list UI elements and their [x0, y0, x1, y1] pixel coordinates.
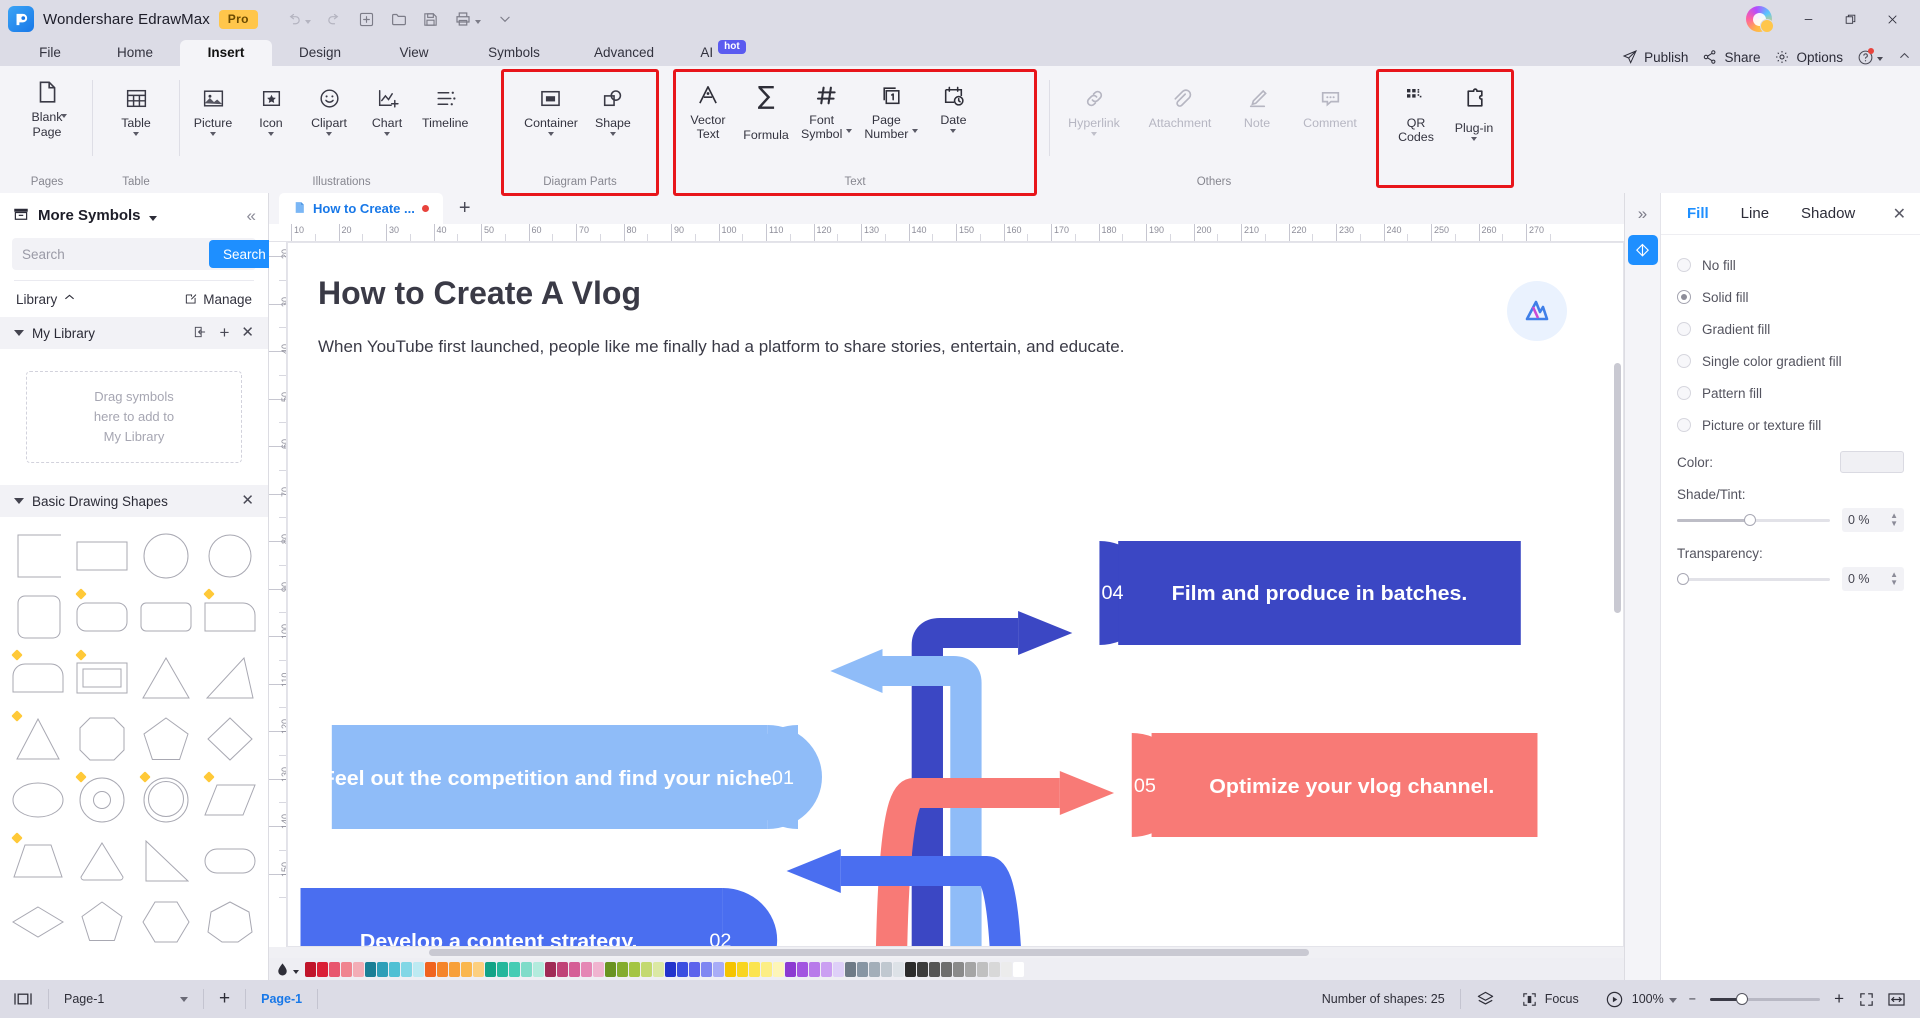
- tab-symbols[interactable]: Symbols: [460, 40, 568, 66]
- color-swatch[interactable]: [797, 962, 808, 977]
- adjust-handle-icon: [203, 588, 214, 599]
- group-basic-drawing-shapes[interactable]: Basic Drawing Shapes ✕: [0, 485, 268, 517]
- ribbon-container-button[interactable]: Container: [518, 80, 584, 136]
- shape-one-corner-rounded[interactable]: [198, 586, 262, 647]
- icon-star-icon: [259, 83, 284, 113]
- fill-option-no-fill[interactable]: No fill: [1677, 249, 1904, 281]
- color-swatch[interactable]: [353, 962, 364, 977]
- fill-option-single-color-gradient-fill[interactable]: Single color gradient fill: [1677, 345, 1904, 377]
- page-selector[interactable]: Page-1: [51, 980, 201, 1018]
- publish-icon: [1622, 49, 1638, 65]
- fill-bucket-icon[interactable]: [275, 962, 299, 977]
- ruler-tick: 80: [269, 541, 286, 542]
- ribbon-formula-label: Formula: [743, 128, 788, 142]
- ribbon-blank-page-label: Blank Page: [32, 110, 63, 140]
- fit-width-icon: [1887, 991, 1906, 1008]
- color-swatch[interactable]: [845, 962, 856, 977]
- close-panel-button[interactable]: ✕: [1893, 204, 1910, 224]
- color-swatch[interactable]: [617, 962, 628, 977]
- share-button[interactable]: Share: [1702, 49, 1760, 65]
- adjust-handle-icon: [203, 771, 214, 782]
- color-swatch[interactable]: [761, 962, 772, 977]
- shape-circle[interactable]: [134, 525, 198, 586]
- color-picker-button[interactable]: [1840, 451, 1904, 473]
- fill-option-label-picture-or-texture-fill: Picture or texture fill: [1702, 418, 1821, 433]
- chevron-down-icon[interactable]: [384, 132, 390, 136]
- color-swatch[interactable]: [953, 962, 964, 977]
- chevron-down-icon[interactable]: [548, 132, 554, 136]
- chevron-down-icon: [1669, 998, 1677, 1003]
- ruler-minor-tick: [980, 234, 981, 242]
- color-swatch[interactable]: [317, 962, 328, 977]
- redo-icon[interactable]: [320, 5, 350, 33]
- tab-file[interactable]: File: [10, 40, 90, 66]
- document-page[interactable]: How to Create A Vlog When YouTube first …: [287, 242, 1624, 947]
- document-tab[interactable]: How to Create ...: [279, 193, 443, 224]
- shape-square[interactable]: [6, 525, 70, 586]
- tab-fill[interactable]: Fill: [1671, 205, 1725, 222]
- color-swatch[interactable]: [365, 962, 376, 977]
- ribbon-group-label-diagram-parts: Diagram Parts: [499, 176, 661, 188]
- color-swatch[interactable]: [401, 962, 412, 977]
- ribbon-qr-codes-label: QR Codes: [1398, 116, 1434, 144]
- ribbon-shape-button[interactable]: Shape: [584, 80, 642, 136]
- color-swatch[interactable]: [377, 962, 388, 977]
- radio-pattern-fill[interactable]: [1677, 386, 1691, 400]
- ruler-minor-tick: [1502, 234, 1503, 242]
- color-swatch[interactable]: [437, 962, 448, 977]
- chevron-down-icon[interactable]: [1471, 137, 1477, 141]
- canvas-area: How to Create ... + 10203040506070809010…: [269, 193, 1624, 980]
- shape-two-corner-rounded[interactable]: [6, 647, 70, 708]
- container-icon: [538, 83, 563, 113]
- library-row: Library Manage: [0, 281, 268, 317]
- color-swatch[interactable]: [389, 962, 400, 977]
- open-icon[interactable]: [384, 5, 414, 33]
- ruler-tick: 10: [291, 224, 304, 241]
- color-swatch[interactable]: [329, 962, 340, 977]
- add-page-button[interactable]: +: [206, 980, 243, 1018]
- ruler-tick: 210: [1241, 224, 1259, 241]
- shape-pill[interactable]: [198, 830, 262, 891]
- presentation-button[interactable]: [1592, 990, 1628, 1009]
- ruler-tick: 20: [269, 256, 286, 257]
- ruler-minor-tick: [1265, 234, 1266, 242]
- library-label: Library: [16, 292, 57, 307]
- share-icon: [1702, 49, 1718, 65]
- ribbon-picture-button[interactable]: Picture: [184, 80, 242, 136]
- close-icon[interactable]: ✕: [241, 327, 254, 339]
- color-swatch[interactable]: [461, 962, 472, 977]
- color-swatch[interactable]: [305, 962, 316, 977]
- chevron-down-icon: [293, 970, 299, 974]
- chevron-up-icon[interactable]: [63, 291, 76, 307]
- ruler-minor-tick: [457, 234, 458, 242]
- color-swatch[interactable]: [713, 962, 724, 977]
- shape-diamond[interactable]: [198, 708, 262, 769]
- divider: [92, 80, 93, 156]
- chevron-down-icon[interactable]: [210, 132, 216, 136]
- zoom-in-button[interactable]: +: [1828, 989, 1850, 1009]
- shape-octagon-rect[interactable]: [70, 708, 134, 769]
- ribbon-plugin-button[interactable]: Plug-in: [1445, 80, 1503, 141]
- radio-gradient-fill[interactable]: [1677, 322, 1691, 336]
- color-swatch[interactable]: [545, 962, 556, 977]
- tab-view[interactable]: View: [368, 40, 460, 66]
- ruler-minor-tick: [505, 234, 506, 242]
- color-swatch[interactable]: [773, 962, 784, 977]
- tab-advanced[interactable]: Advanced: [568, 40, 680, 66]
- color-swatch[interactable]: [689, 962, 700, 977]
- ruler-minor-tick: [1122, 234, 1123, 242]
- ribbon-icon-button[interactable]: Icon: [242, 80, 300, 136]
- color-swatch[interactable]: [809, 962, 820, 977]
- search-input[interactable]: [12, 247, 209, 262]
- layers-button[interactable]: [1463, 990, 1508, 1009]
- color-swatch[interactable]: [593, 962, 604, 977]
- ruler-minor-tick: [279, 755, 287, 756]
- ruler-tick: 90: [269, 589, 286, 590]
- ruler-minor-tick: [279, 802, 287, 803]
- collapse-ribbon-button[interactable]: [1897, 48, 1912, 66]
- share-label: Share: [1724, 50, 1760, 65]
- ruler-minor-tick: [1550, 234, 1551, 242]
- tab-insert[interactable]: Insert: [180, 40, 272, 66]
- shape-parallelogram[interactable]: [198, 769, 262, 830]
- tab-design[interactable]: Design: [272, 40, 368, 66]
- chart-icon: [375, 83, 400, 113]
- help-button[interactable]: [1857, 49, 1883, 66]
- color-swatch[interactable]: [425, 962, 436, 977]
- color-swatch[interactable]: [569, 962, 580, 977]
- shape-right-triangle[interactable]: [134, 830, 198, 891]
- radio-solid-fill[interactable]: [1677, 290, 1691, 304]
- color-swatch[interactable]: [509, 962, 520, 977]
- color-swatch[interactable]: [629, 962, 640, 977]
- print-icon[interactable]: [448, 5, 488, 33]
- ruler-tick: 130: [861, 224, 879, 241]
- color-swatch[interactable]: [989, 962, 1000, 977]
- color-swatch[interactable]: [749, 962, 760, 977]
- close-button[interactable]: [1872, 3, 1912, 35]
- format-panel: Fill Line Shadow ✕ No fill Solid fill Gr…: [1660, 193, 1920, 980]
- page-title[interactable]: How to Create A Vlog: [318, 275, 641, 312]
- color-swatch[interactable]: [641, 962, 652, 977]
- color-swatch[interactable]: [605, 962, 616, 977]
- color-swatch[interactable]: [533, 962, 544, 977]
- color-swatch[interactable]: [869, 962, 880, 977]
- ruler-tick: 270: [1526, 224, 1544, 241]
- color-swatch[interactable]: [977, 962, 988, 977]
- ruler-tick: 220: [1289, 224, 1307, 241]
- color-swatch[interactable]: [413, 962, 424, 977]
- current-page-tab[interactable]: Page-1: [248, 980, 315, 1018]
- shape-rhombus-wide[interactable]: [6, 891, 70, 952]
- chevron-down-icon[interactable]: [950, 129, 956, 133]
- adjust-handle-icon: [11, 832, 22, 843]
- horizontal-scrollbar[interactable]: [429, 949, 1309, 956]
- manage-button[interactable]: Manage: [184, 292, 252, 307]
- color-swatch[interactable]: [893, 962, 904, 977]
- color-swatch[interactable]: [473, 962, 484, 977]
- color-swatch[interactable]: [497, 962, 508, 977]
- ribbon-page-number-button[interactable]: Page Number: [858, 77, 924, 141]
- divider: [179, 80, 180, 156]
- ruler-tick: 170: [1051, 224, 1069, 241]
- shape-donut[interactable]: [70, 769, 134, 830]
- ribbon-group-label-pages: Pages: [6, 176, 88, 188]
- ruler-minor-tick: [1455, 234, 1456, 242]
- ruler-tick: 240: [1384, 224, 1402, 241]
- status-bar: Page-1 + Page-1 Number of shapes: 25 Foc…: [0, 980, 1920, 1018]
- menu-tabs: File Home Insert Design View Symbols Adv…: [0, 38, 1920, 66]
- ruler-tick: 110: [766, 224, 783, 241]
- ruler-tick: 110: [269, 684, 286, 685]
- ruler-minor-tick: [279, 850, 287, 851]
- color-swatch[interactable]: [449, 962, 460, 977]
- shape-trapezoid[interactable]: [6, 830, 70, 891]
- color-swatch[interactable]: [1001, 962, 1012, 977]
- adjust-handle-icon: [11, 649, 22, 660]
- ribbon-comment-button: Comment: [1288, 80, 1372, 130]
- ruler-tick: 260: [1479, 224, 1497, 241]
- ruler-minor-tick: [1312, 234, 1313, 242]
- avatar[interactable]: [1746, 6, 1772, 32]
- color-swatch[interactable]: [653, 962, 664, 977]
- options-button[interactable]: Options: [1774, 49, 1843, 65]
- ruler-tick: 30: [386, 224, 399, 241]
- transparency-value[interactable]: 0 % ▲▼: [1842, 567, 1904, 591]
- color-swatch[interactable]: [941, 962, 952, 977]
- color-swatch[interactable]: [485, 962, 496, 977]
- chevron-down-icon[interactable]: [912, 129, 918, 133]
- comment-icon: [1318, 83, 1343, 113]
- fill-option-label-solid-fill: Solid fill: [1702, 290, 1749, 305]
- chevron-down-icon[interactable]: [326, 132, 332, 136]
- focus-icon: [1521, 991, 1538, 1008]
- hyperlink-icon: [1082, 83, 1107, 113]
- vertical-scrollbar[interactable]: [1614, 363, 1621, 613]
- save-icon[interactable]: [416, 5, 446, 33]
- ribbon-group-table: Table Table: [97, 66, 175, 193]
- color-swatch[interactable]: [905, 962, 916, 977]
- shape-rectangle[interactable]: [70, 525, 134, 586]
- fit-width-button[interactable]: [1883, 991, 1920, 1008]
- horizontal-scrollbar-track[interactable]: [269, 947, 1624, 958]
- ruler-tick: 100: [269, 636, 286, 637]
- close-icon[interactable]: ✕: [241, 495, 254, 507]
- color-swatch[interactable]: [341, 962, 352, 977]
- ribbon-table-label: Table: [121, 116, 151, 130]
- shape-rounded-rectangle[interactable]: [70, 586, 134, 647]
- ribbon-chart-button[interactable]: Chart: [358, 80, 416, 136]
- collapse-panel-icon[interactable]: «: [247, 206, 256, 226]
- vlog-process-diagram[interactable]: 04 Film and produce in batches. 01 Feel …: [288, 383, 1623, 947]
- ribbon-group-label-text: Text: [671, 176, 1039, 188]
- ribbon-container-label: Container: [524, 116, 578, 130]
- add-page-icon: +: [219, 991, 230, 1007]
- fit-page-icon: [1858, 991, 1875, 1008]
- undo-icon[interactable]: [278, 5, 318, 33]
- ribbon-date-button[interactable]: Date: [924, 77, 982, 133]
- color-swatch[interactable]: [929, 962, 940, 977]
- chevron-down-icon[interactable]: [610, 132, 616, 136]
- new-tab-button[interactable]: +: [443, 197, 487, 220]
- radio-picture-or-texture-fill[interactable]: [1677, 418, 1691, 432]
- zoom-out-button[interactable]: −: [1683, 992, 1702, 1006]
- ruler-minor-tick: [279, 470, 287, 471]
- color-swatch[interactable]: [521, 962, 532, 977]
- ribbon-hyperlink-label: Hyperlink: [1068, 116, 1120, 130]
- color-swatch[interactable]: [785, 962, 796, 977]
- fill-option-picture-or-texture-fill[interactable]: Picture or texture fill: [1677, 409, 1904, 441]
- fit-page-button[interactable]: [1850, 991, 1883, 1008]
- ribbon-vector-text-label: Vector Text: [690, 113, 725, 141]
- chevron-down-icon: [1091, 132, 1097, 136]
- stepper-arrows-icon[interactable]: ▲▼: [1890, 513, 1898, 527]
- ribbon-formula-button[interactable]: ∑ Formula: [737, 77, 795, 142]
- shape-ellipse-round[interactable]: [198, 525, 262, 586]
- ribbon-group-text: Vector Text ∑ Formula Font Symbol: [671, 66, 1039, 193]
- ribbon-attachment-label: Attachment: [1149, 116, 1212, 130]
- fill-option-solid-fill[interactable]: Solid fill: [1677, 281, 1904, 313]
- format-panel-tabs: Fill Line Shadow ✕: [1661, 193, 1920, 235]
- radio-no-fill[interactable]: [1677, 258, 1691, 272]
- ruler-minor-tick: [932, 234, 933, 242]
- color-swatch[interactable]: [665, 962, 676, 977]
- ruler-tick: 250: [1431, 224, 1449, 241]
- group-my-library[interactable]: My Library + ✕: [0, 317, 268, 349]
- shape-ring[interactable]: [134, 769, 198, 830]
- ruler-tick: 60: [529, 224, 542, 241]
- color-swatch[interactable]: [701, 962, 712, 977]
- ribbon-blank-page-button[interactable]: Blank Page: [18, 74, 76, 140]
- ribbon-font-symbol-label: Font Symbol: [801, 113, 842, 141]
- my-library-dropzone[interactable]: Drag symbols here to add to My Library: [26, 371, 242, 463]
- tab-shadow[interactable]: Shadow: [1785, 205, 1871, 222]
- maximize-button[interactable]: [1830, 3, 1870, 35]
- transparency-label: Transparency:: [1677, 546, 1904, 561]
- options-label: Options: [1796, 50, 1843, 65]
- radio-single-color-gradient-fill[interactable]: [1677, 354, 1691, 368]
- focus-button[interactable]: Focus: [1508, 991, 1592, 1008]
- chevron-down-icon[interactable]: [846, 129, 852, 133]
- color-swatch[interactable]: [965, 962, 976, 977]
- chevron-down-icon[interactable]: [268, 132, 274, 136]
- ruler-minor-tick: [279, 897, 287, 898]
- color-swatch[interactable]: [857, 962, 868, 977]
- tab-home[interactable]: Home: [90, 40, 180, 66]
- shapes-count: Number of shapes: 25: [1309, 992, 1458, 1006]
- color-swatch-list[interactable]: [305, 962, 1024, 977]
- transparency-slider[interactable]: [1677, 571, 1830, 587]
- shade-tint-value[interactable]: 0 % ▲▼: [1842, 508, 1904, 532]
- fill-option-pattern-fill[interactable]: Pattern fill: [1677, 377, 1904, 409]
- fill-style-tool-icon[interactable]: [1628, 235, 1658, 265]
- title-bar: Wondershare EdrawMax Pro: [0, 0, 1920, 38]
- shape-right-triangle-slanted[interactable]: [198, 647, 262, 708]
- shape-rounded-pentagon[interactable]: [70, 891, 134, 952]
- minimize-button[interactable]: [1788, 3, 1828, 35]
- shape-rounded-square[interactable]: [6, 586, 70, 647]
- ribbon-table-button[interactable]: Table: [107, 80, 165, 136]
- shape-ellipse[interactable]: [6, 769, 70, 830]
- ribbon-qr-codes-button[interactable]: QR Codes: [1387, 80, 1445, 144]
- chevron-down-icon[interactable]: [61, 114, 67, 118]
- shape-triangle[interactable]: [134, 647, 198, 708]
- color-swatch[interactable]: [737, 962, 748, 977]
- ruler-tick: 130: [269, 779, 286, 780]
- shape-rounded-rect-small[interactable]: [134, 586, 198, 647]
- ribbon-vector-text-button[interactable]: Vector Text: [679, 77, 737, 141]
- page-view-toggle[interactable]: [0, 980, 46, 1018]
- color-swatch[interactable]: [677, 962, 688, 977]
- publish-button[interactable]: Publish: [1622, 49, 1688, 65]
- shape-heptagon[interactable]: [198, 891, 262, 952]
- horizontal-ruler[interactable]: 1020304050607080901001101201301401501601…: [269, 224, 1624, 242]
- ruler-minor-tick: [279, 280, 287, 281]
- customize-qat-icon[interactable]: [490, 5, 520, 33]
- page-subtitle[interactable]: When YouTube first launched, people like…: [318, 337, 1124, 357]
- ruler-minor-tick: [885, 234, 886, 242]
- triangle-down-icon: [14, 498, 24, 504]
- ribbon-note-label: Note: [1244, 116, 1270, 130]
- color-swatch[interactable]: [881, 962, 892, 977]
- color-swatch[interactable]: [1013, 962, 1024, 977]
- ribbon-group-label-others: Others: [1054, 176, 1374, 188]
- ribbon-clipart-button[interactable]: Clipart: [300, 80, 358, 136]
- color-swatch[interactable]: [821, 962, 832, 977]
- color-swatch[interactable]: [557, 962, 568, 977]
- zoom-level[interactable]: 100%: [1628, 992, 1683, 1006]
- attachment-icon: [1168, 83, 1193, 113]
- ribbon-page-number-label: Page Number: [864, 113, 908, 141]
- ruler-minor-tick: [279, 660, 287, 661]
- tab-ai[interactable]: AI hot: [680, 40, 766, 66]
- ribbon-plugin-label: Plug-in: [1455, 121, 1494, 135]
- ruler-minor-tick: [279, 375, 287, 376]
- ribbon-timeline-button[interactable]: Timeline: [416, 80, 474, 130]
- expand-right-panel-icon[interactable]: »: [1625, 197, 1660, 231]
- add-icon[interactable]: +: [219, 327, 229, 339]
- chevron-down-icon[interactable]: [149, 216, 157, 221]
- stepper-arrows-icon[interactable]: ▲▼: [1890, 572, 1898, 586]
- zoom-slider[interactable]: [1710, 992, 1820, 1006]
- shade-tint-slider[interactable]: [1677, 512, 1830, 528]
- color-swatch[interactable]: [833, 962, 844, 977]
- color-swatch[interactable]: [581, 962, 592, 977]
- shape-isosceles-triangle[interactable]: [6, 708, 70, 769]
- ribbon-insert: Blank Page Pages Table Table: [0, 66, 1920, 193]
- chevron-down-icon[interactable]: [133, 132, 139, 136]
- tab-line[interactable]: Line: [1725, 205, 1785, 222]
- color-swatch[interactable]: [917, 962, 928, 977]
- date-icon: [941, 80, 966, 110]
- ribbon-font-symbol-button[interactable]: Font Symbol: [795, 77, 858, 141]
- ruler-tick: 120: [269, 731, 286, 732]
- fill-option-gradient-fill[interactable]: Gradient fill: [1677, 313, 1904, 345]
- shape-pentagon[interactable]: [134, 708, 198, 769]
- shape-hexagon[interactable]: [134, 891, 198, 952]
- ribbon-clipart-label: Clipart: [311, 116, 347, 130]
- shape-nested-rectangle[interactable]: [70, 647, 134, 708]
- new-icon[interactable]: [352, 5, 382, 33]
- shape-rounded-triangle[interactable]: [70, 830, 134, 891]
- import-icon[interactable]: [193, 325, 207, 342]
- color-swatch[interactable]: [725, 962, 736, 977]
- ruler-minor-tick: [1075, 234, 1076, 242]
- vertical-ruler[interactable]: 2030405060708090100110120130140150: [269, 242, 287, 947]
